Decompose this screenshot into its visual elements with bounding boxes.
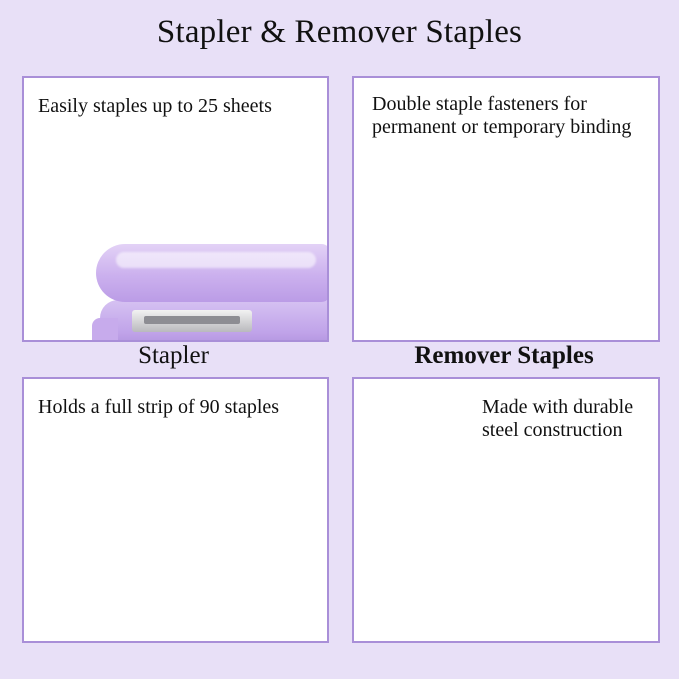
- caption-bottom-right: Made with durable steel construction: [482, 396, 642, 442]
- caption-top-right: Double staple fasteners for permanent or…: [372, 93, 644, 139]
- caption-top-left: Easily staples up to 25 sheets: [38, 95, 288, 118]
- caption-bottom-left: Holds a full strip of 90 staples: [38, 396, 288, 419]
- infographic-page: Stapler & Remover Staples Easily staples…: [0, 0, 679, 679]
- stapler-nose: [92, 318, 118, 342]
- section-label-remover-staples: Remover Staples: [352, 342, 656, 370]
- section-label-stapler: Stapler: [22, 342, 325, 370]
- stapler-body-highlight: [116, 252, 316, 268]
- stapler-anvil-slot: [144, 316, 240, 324]
- page-title: Stapler & Remover Staples: [0, 14, 679, 51]
